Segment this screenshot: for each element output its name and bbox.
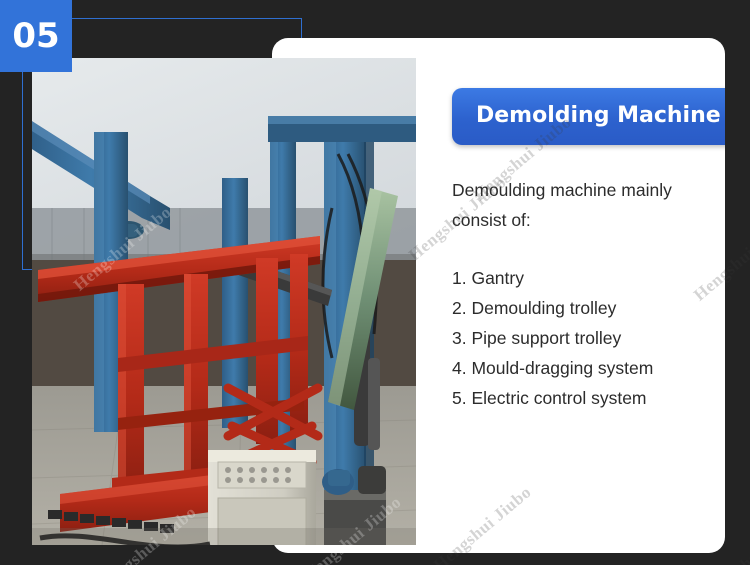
title-label: Demolding Machine	[476, 103, 721, 128]
product-photo	[32, 58, 416, 545]
intro-line-1: Demoulding machine mainly	[452, 175, 703, 205]
list-item: 2. Demoulding trolley	[452, 293, 703, 323]
list-item: 3. Pipe support trolley	[452, 323, 703, 353]
intro-line-2: consist of:	[452, 205, 703, 235]
list-item: 4. Mould-dragging system	[452, 353, 703, 383]
list-item: 5. Electric control system	[452, 383, 703, 413]
slide-root: 05 Demolding Machine Demoulding machine …	[0, 0, 750, 565]
component-list: 1. Gantry 2. Demoulding trolley 3. Pipe …	[452, 263, 703, 413]
step-number-label: 05	[12, 19, 59, 53]
step-number-badge: 05	[0, 0, 72, 72]
title-pill[interactable]: Demolding Machine	[452, 88, 725, 145]
list-item: 1. Gantry	[452, 263, 703, 293]
content-card-body: Demolding Machine Demoulding machine mai…	[448, 38, 725, 553]
intro-text: Demoulding machine mainly consist of:	[452, 175, 703, 235]
